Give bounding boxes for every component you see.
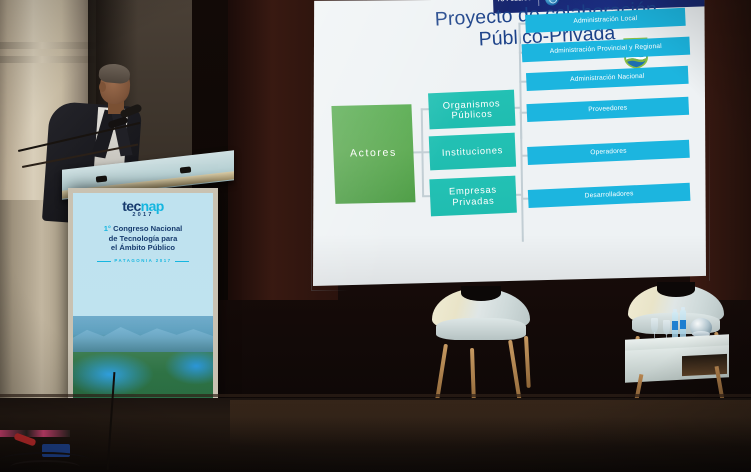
podium-headline-ordinal: 1° — [104, 224, 111, 233]
connector-branch3-vertical — [520, 112, 524, 242]
leaf-label: Administración Provincial y Regional — [550, 43, 662, 55]
stage-floor-reflection — [230, 400, 751, 466]
leaf-label: Administración Nacional — [570, 73, 644, 84]
diagram-node-empresas-privadas: Empresas Privadas — [429, 176, 517, 217]
diagram-node-instituciones: Instituciones — [429, 133, 516, 171]
projection-screen: TO PÚBLICO Tecnologías Emergentes y Soci… — [313, 0, 706, 286]
tecnap-logo-year: 2017 — [73, 212, 213, 218]
chair-left-backrest-notch — [461, 286, 500, 301]
bottle-label-1 — [672, 321, 678, 330]
empresas-line2: Privadas — [452, 195, 494, 207]
floor-cable-strip — [0, 430, 70, 437]
bottle-cap-2 — [681, 307, 685, 310]
instituciones-label: Instituciones — [442, 145, 504, 158]
leaf-label: Operadores — [590, 148, 627, 157]
podium-headline-line1: 1° Congreso Nacional — [73, 224, 213, 234]
podium-headline-line1-text: Congreso Nacional — [113, 224, 182, 233]
chair-left-seat — [436, 318, 526, 340]
diagram-node-organismos-publicos: Organismos Públicos — [428, 90, 515, 130]
organismos-line2: Públicos — [451, 109, 492, 121]
water-bottle-1 — [672, 312, 678, 340]
podium-footer-text: PATAGONIA 2017 — [114, 258, 171, 263]
tecnap-logo: tecnap — [73, 199, 213, 213]
drinking-glass-2 — [663, 320, 670, 335]
podium-footer-wrap: PATAGONIA 2017 — [73, 258, 213, 263]
bottle-label-2 — [680, 320, 686, 329]
diagram-leaf-administracion-local: Administración Local — [525, 8, 686, 33]
rule-right-icon — [175, 261, 189, 262]
podium-headline-line2: de Tecnología para — [73, 234, 213, 244]
podium-clip-right — [180, 166, 192, 173]
collaboration-diagram: Actores Organismos Públicos Institucione… — [313, 0, 710, 286]
presentation-photo-scene: TO PÚBLICO Tecnologías Emergentes y Soci… — [0, 0, 751, 472]
diagram-node-actores: Actores — [331, 104, 415, 204]
chair-right-backrest-notch — [657, 282, 695, 297]
drinking-glass-1 — [651, 318, 658, 333]
podium-headline-line3: el Ámbito Público — [73, 243, 213, 253]
water-bottle-2 — [680, 310, 686, 340]
diagram-leaf-administracion-nacional: Administración Nacional — [526, 66, 689, 91]
diagram-leaf-operadores: Operadores — [527, 140, 690, 165]
floor-cable-2 — [10, 460, 80, 472]
podium-sign-upper: tecnap 2017 1° Congreso Nacional de Tecn… — [73, 193, 213, 322]
podium-headline: 1° Congreso Nacional de Tecnología para … — [73, 224, 213, 253]
diagram-node-actores-label: Actores — [350, 148, 397, 161]
speaker-ear — [99, 82, 106, 92]
diagram-leaf-administracion-provincial: Administración Provincial y Regional — [522, 37, 691, 63]
leaf-label: Desarrolladores — [585, 191, 634, 200]
leaf-label: Administración Local — [573, 15, 637, 25]
rule-left-icon — [97, 261, 111, 262]
bottle-cap-1 — [673, 309, 677, 312]
podium-clip-left — [96, 175, 108, 182]
diagram-leaf-desarrolladores: Desarrolladores — [528, 183, 691, 208]
photo-mountains — [73, 316, 213, 352]
coffee-table-shelf-opening — [682, 354, 727, 376]
diagram-leaf-proveedores: Proveedores — [526, 97, 689, 122]
leaf-label: Proveedores — [588, 105, 627, 114]
